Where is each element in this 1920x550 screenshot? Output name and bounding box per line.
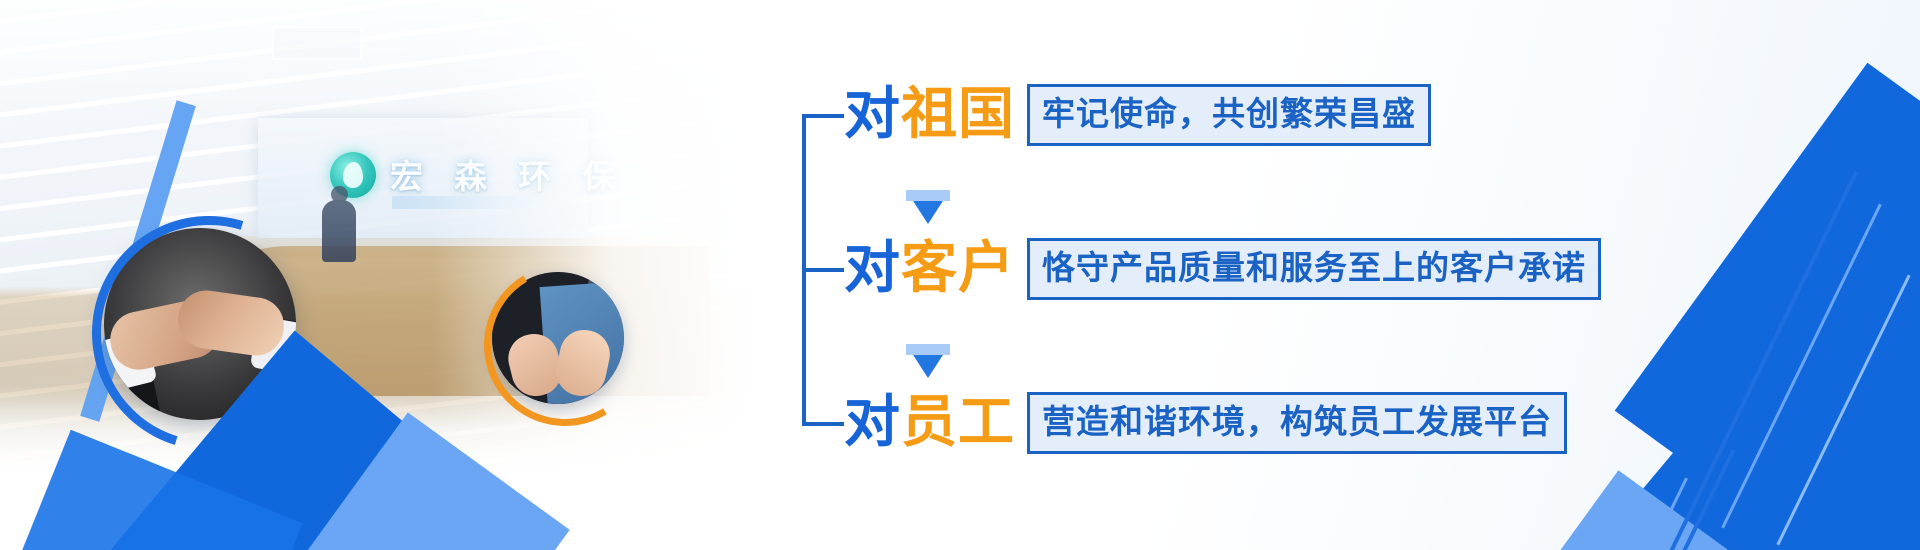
- statement-row-customer: 对客户 恪守产品质量和服务至上的客户承诺: [844, 228, 1601, 310]
- connector-branch-1: [802, 114, 844, 118]
- statement-lead-customer: 对客户: [844, 228, 1015, 310]
- receptionist-figure: [322, 200, 356, 262]
- statement-text-customer: 恪守产品质量和服务至上的客户承诺: [1027, 238, 1601, 300]
- statement-lead-employee: 对员工: [844, 382, 1015, 464]
- statement-row-nation: 对祖国 牢记使命，共创繁荣昌盛: [844, 74, 1431, 156]
- connector-branch-2: [802, 268, 844, 272]
- lead-subject: 祖国: [901, 82, 1015, 147]
- statement-lead-nation: 对祖国: [844, 74, 1015, 156]
- down-arrow-icon-1: [906, 190, 950, 224]
- culture-statement-group: 对祖国 牢记使命，共创繁荣昌盛 对客户 恪守产品质量和服务至上的客户承诺 对员工…: [800, 70, 1760, 470]
- connector-branch-3: [802, 422, 844, 426]
- statement-row-employee: 对员工 营造和谐环境，构筑员工发展平台: [844, 382, 1567, 464]
- statement-text-employee: 营造和谐环境，构筑员工发展平台: [1027, 392, 1567, 454]
- lead-prefix: 对: [844, 82, 901, 147]
- company-culture-banner: 宏 森 环 保: [0, 0, 1920, 550]
- lead-prefix: 对: [844, 236, 901, 301]
- lead-subject: 员工: [901, 390, 1015, 455]
- down-arrow-icon-2: [906, 344, 950, 378]
- lead-subject: 客户: [901, 236, 1015, 301]
- statement-text-nation: 牢记使命，共创繁荣昌盛: [1027, 84, 1431, 146]
- lead-prefix: 对: [844, 390, 901, 455]
